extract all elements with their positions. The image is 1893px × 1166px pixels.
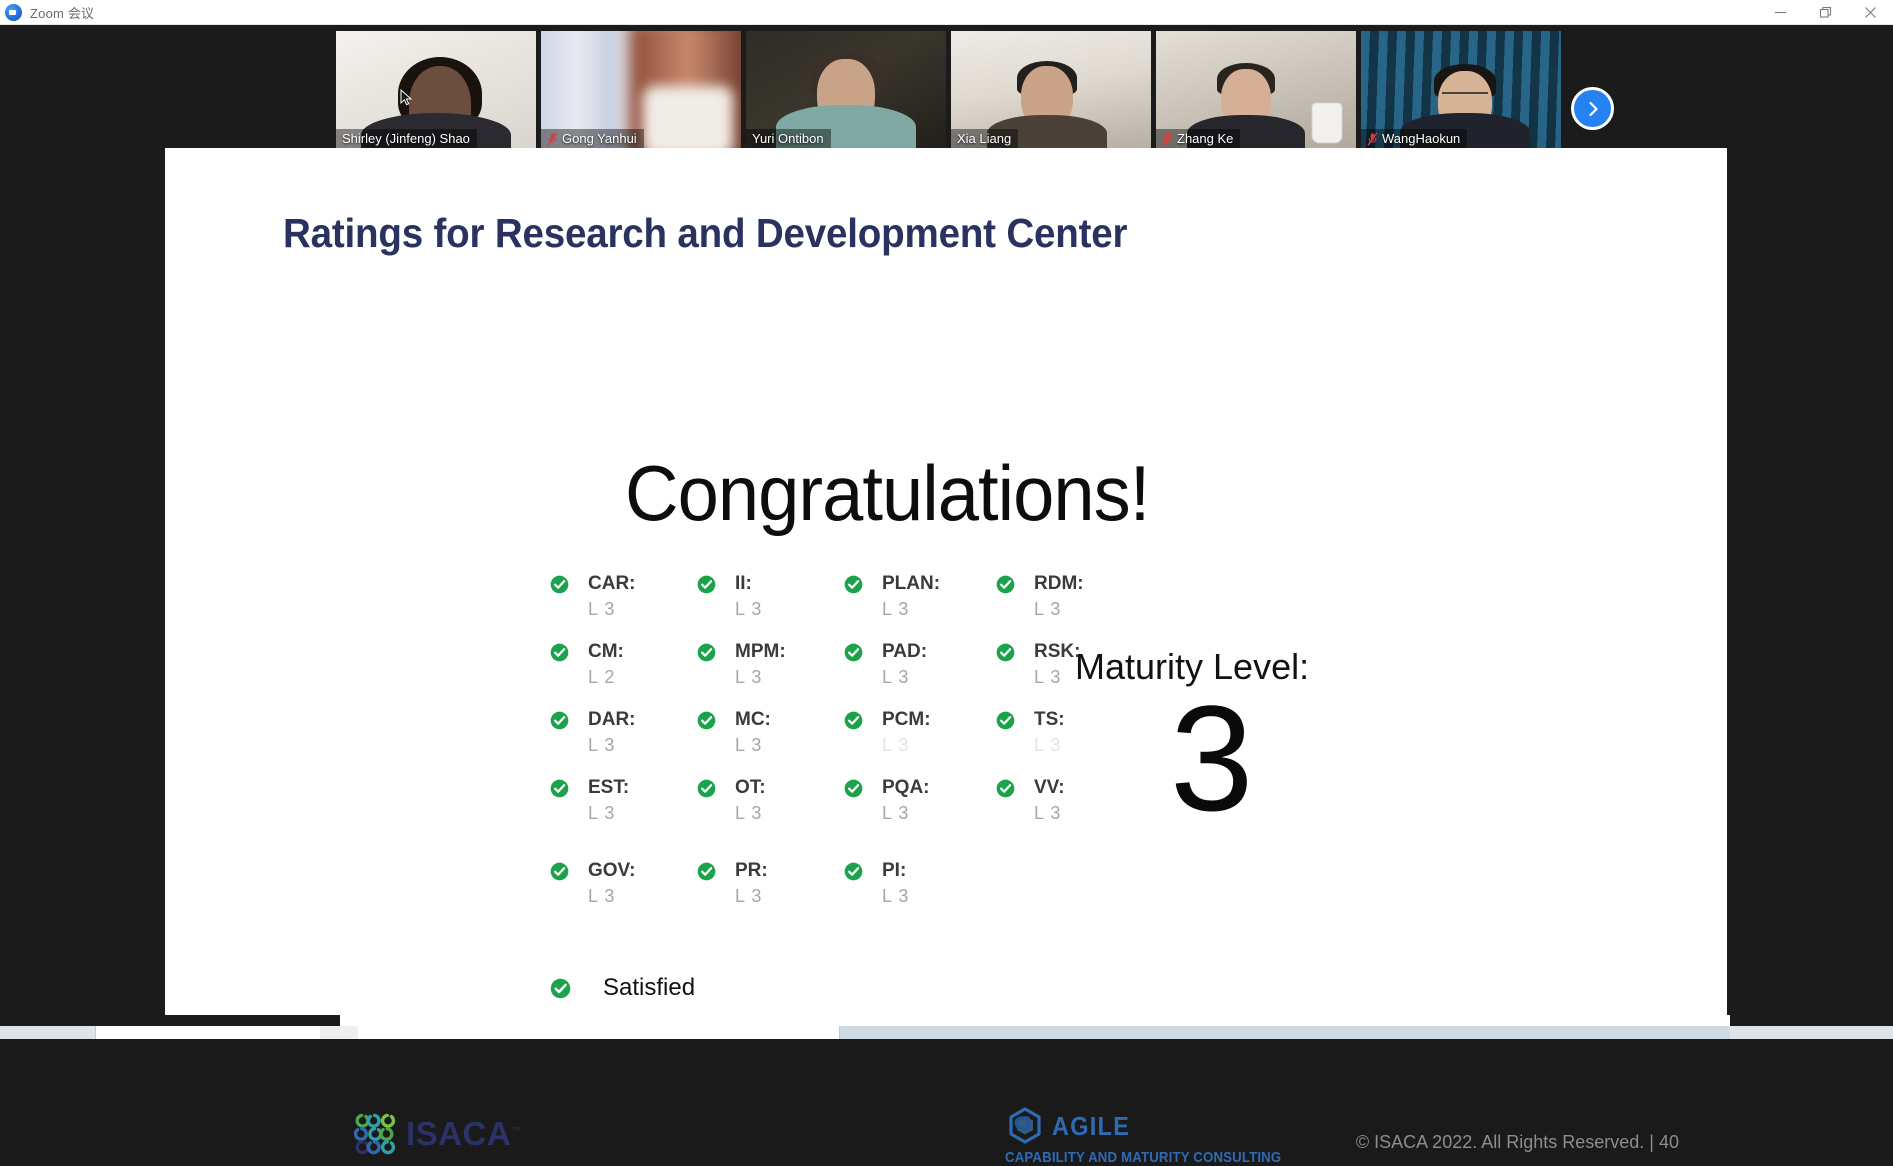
background-window-right[interactable] [840, 1026, 1730, 1039]
agile-logo: AGILE CAPABILITY AND MATURITY CONSULTING [1005, 1106, 1319, 1166]
check-circle-icon [844, 643, 863, 662]
check-circle-icon [550, 575, 569, 594]
participant-name: Yuri Ontibon [752, 131, 824, 146]
muted-mic-icon [1367, 132, 1378, 146]
participant-name: Shirley (Jinfeng) Shao [342, 131, 470, 146]
rating-label: PR: [735, 860, 768, 882]
isaca-wordmark-text: ISACA [406, 1115, 511, 1152]
maximize-button[interactable] [1803, 0, 1848, 25]
ratings-column: CAR: L 3 CM: L 2 DAR: L 3 EST: L 3 [550, 573, 697, 928]
rating-label: PQA: [882, 777, 930, 799]
background-window-left[interactable] [95, 1026, 840, 1039]
check-circle-icon [550, 711, 569, 730]
rating-item: DAR: L 3 [550, 709, 697, 777]
rating-label: RDM: [1034, 573, 1084, 595]
rating-level: L 3 [1034, 803, 1061, 824]
ratings-grid: CAR: L 3 CM: L 2 DAR: L 3 EST: L 3 [550, 573, 1143, 928]
rating-level: L 3 [882, 886, 909, 907]
muted-mic-icon [547, 132, 558, 146]
rating-label: PAD: [882, 641, 927, 663]
participant-filmstrip: Shirley (Jinfeng) Shao Gong Yanhui Y [336, 31, 1564, 149]
participant-tile[interactable]: Gong Yanhui [541, 31, 741, 149]
taskbar-sliver [0, 1015, 1893, 1039]
isaca-wordmark: ISACA™ [406, 1115, 521, 1153]
legend-label: Satisfied [603, 974, 695, 1002]
check-circle-icon [545, 978, 575, 999]
rating-level: L 3 [588, 735, 615, 756]
meeting-stage: Shirley (Jinfeng) Shao Gong Yanhui Y [0, 25, 1893, 1015]
isaca-mark-icon [350, 1110, 397, 1157]
filmstrip-next-button[interactable] [1571, 87, 1614, 130]
check-circle-icon [697, 862, 716, 881]
rating-label: TS: [1034, 709, 1065, 731]
check-circle-icon [996, 779, 1015, 798]
ratings-column: II: L 3 MPM: L 3 MC: L 3 OT: L 3 [697, 573, 844, 928]
check-circle-icon [550, 643, 569, 662]
mouse-cursor-icon [400, 89, 414, 107]
isaca-logo: ISACA™ [350, 1110, 521, 1157]
rating-level: L 3 [735, 735, 762, 756]
rating-label: PLAN: [882, 573, 940, 595]
rating-item: MPM: L 3 [697, 641, 844, 709]
participant-name-badge: Zhang Ke [1156, 129, 1240, 149]
rating-label: DAR: [588, 709, 636, 731]
participant-name-badge: Shirley (Jinfeng) Shao [336, 129, 477, 149]
agile-logo-top: AGILE [1005, 1106, 1319, 1146]
rating-item: OT: L 3 [697, 777, 844, 845]
rating-level: L 3 [882, 667, 909, 688]
rating-level: L 3 [882, 735, 909, 756]
participant-name-badge: WangHaokun [1361, 129, 1467, 149]
slide-headline: Congratulations! [625, 448, 1149, 539]
check-circle-icon [996, 711, 1015, 730]
rating-label: MPM: [735, 641, 786, 663]
taskbar-dark-left [0, 1015, 340, 1026]
rating-item: PAD: L 3 [844, 641, 996, 709]
check-circle-icon [697, 643, 716, 662]
window-title: Zoom 会议 [30, 3, 94, 22]
check-circle-icon [844, 779, 863, 798]
rating-item: TS: L 3 [996, 709, 1143, 777]
trademark-symbol: ™ [511, 1125, 521, 1135]
participant-name-badge: Yuri Ontibon [746, 129, 831, 149]
rating-item: PR: L 3 [697, 860, 844, 928]
participant-tile[interactable]: Zhang Ke [1156, 31, 1356, 149]
background-window-thumbnail[interactable] [320, 1026, 358, 1039]
rating-level: L 3 [735, 667, 762, 688]
close-button[interactable] [1848, 0, 1893, 25]
rating-level: L 3 [1034, 735, 1061, 756]
rating-item: GOV: L 3 [550, 860, 697, 928]
rating-label: PCM: [882, 709, 931, 731]
participant-tile[interactable]: Xia Liang [951, 31, 1151, 149]
participant-name-badge: Gong Yanhui [541, 129, 644, 149]
participant-name: WangHaokun [1382, 131, 1460, 146]
zoom-logo-icon [5, 4, 22, 21]
rating-item: VV: L 3 [996, 777, 1143, 845]
rating-label: RSK: [1034, 641, 1080, 663]
rating-item: RDM: L 3 [996, 573, 1143, 641]
rating-level: L 3 [1034, 599, 1061, 620]
check-circle-icon [697, 711, 716, 730]
legend-row-satisfied: Satisfied [545, 968, 722, 1008]
slide-title: Ratings for Research and Development Cen… [283, 210, 1127, 257]
participant-name: Xia Liang [957, 131, 1011, 146]
rating-label: MC: [735, 709, 771, 731]
rating-level: L 3 [735, 803, 762, 824]
check-circle-icon [550, 779, 569, 798]
check-circle-icon [550, 862, 569, 881]
taskbar-dark-right [1730, 1015, 1893, 1026]
rating-label: PI: [882, 860, 906, 882]
shared-slide: Ratings for Research and Development Cen… [165, 148, 1727, 1033]
rating-item: EST: L 3 [550, 777, 697, 845]
agile-wordmark: AGILE [1052, 1111, 1130, 1142]
maturity-level-value: 3 [1170, 683, 1253, 833]
rating-item: PQA: L 3 [844, 777, 996, 845]
participant-name-badge: Xia Liang [951, 129, 1018, 149]
participant-name: Gong Yanhui [562, 131, 637, 146]
muted-mic-icon [1162, 132, 1173, 146]
rating-item: II: L 3 [697, 573, 844, 641]
window-titlebar: Zoom 会议 [0, 0, 1893, 25]
participant-tile[interactable]: Shirley (Jinfeng) Shao [336, 31, 536, 149]
rating-label: CAR: [588, 573, 636, 595]
rating-item: PI: L 3 [844, 860, 996, 928]
rating-level: L 3 [588, 886, 615, 907]
chevron-right-icon [1583, 99, 1603, 119]
rating-item: CM: L 2 [550, 641, 697, 709]
participant-tile-active-speaker[interactable]: Yuri Ontibon [746, 31, 946, 149]
check-circle-icon [697, 575, 716, 594]
rating-label: II: [735, 573, 752, 595]
rating-level: L 3 [735, 886, 762, 907]
rating-level: L 3 [735, 599, 762, 620]
rating-label: OT: [735, 777, 766, 799]
check-circle-icon [996, 643, 1015, 662]
rating-level: L 3 [1034, 667, 1061, 688]
check-circle-icon [844, 711, 863, 730]
rating-level: L 3 [882, 599, 909, 620]
check-circle-icon [996, 575, 1015, 594]
rating-item: PLAN: L 3 [844, 573, 996, 641]
check-circle-icon [844, 575, 863, 594]
rating-level: L 3 [588, 803, 615, 824]
rating-label: VV: [1034, 777, 1065, 799]
rating-item: PCM: L 3 [844, 709, 996, 777]
rating-label: GOV: [588, 860, 636, 882]
check-circle-icon [697, 779, 716, 798]
rating-label: EST: [588, 777, 629, 799]
rating-level: L 3 [882, 803, 909, 824]
ratings-column: RDM: L 3 RSK: L 3 TS: L 3 VV: L 3 [996, 573, 1143, 928]
participant-name: Zhang Ke [1177, 131, 1233, 146]
rating-level: L 3 [588, 599, 615, 620]
agile-mark-icon [1005, 1106, 1045, 1146]
rating-label: CM: [588, 641, 624, 663]
rating-level: L 2 [588, 667, 615, 688]
minimize-button[interactable] [1758, 0, 1803, 25]
rating-item: CAR: L 3 [550, 573, 697, 641]
check-circle-icon [844, 862, 863, 881]
agile-tagline: CAPABILITY AND MATURITY CONSULTING [1005, 1149, 1281, 1166]
participant-tile[interactable]: WangHaokun [1361, 31, 1561, 149]
ratings-column: PLAN: L 3 PAD: L 3 PCM: L 3 PQA: L 3 [844, 573, 996, 928]
slide-copyright: © ISACA 2022. All Rights Reserved. | 40 [1356, 1132, 1679, 1153]
rating-item: MC: L 3 [697, 709, 844, 777]
